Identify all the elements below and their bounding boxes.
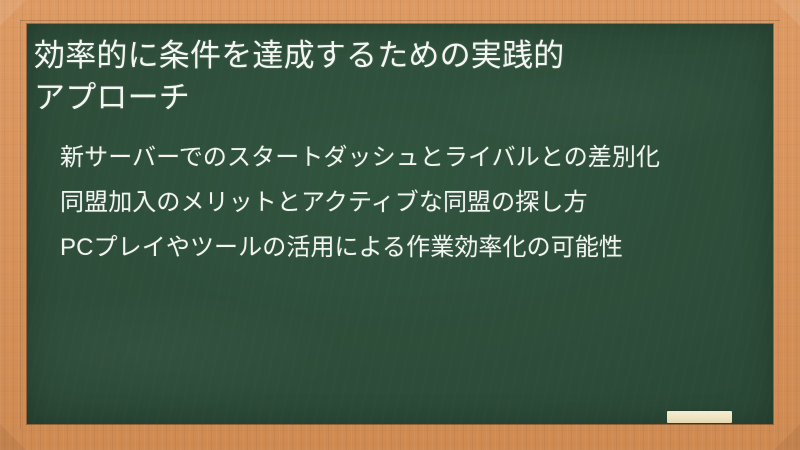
frame-corner-top-right bbox=[774, 0, 800, 26]
slide-bullet-list: 新サーバーでのスタートダッシュとライバルとの差別化 同盟加入のメリットとアクティ… bbox=[34, 141, 755, 264]
frame-corner-bottom-left bbox=[0, 424, 26, 450]
chalk-stick-icon bbox=[667, 411, 732, 423]
frame-corner-bottom-right bbox=[774, 424, 800, 450]
slide-title: 効率的に条件を達成するための実践的 アプローチ bbox=[34, 35, 755, 119]
list-item: PCプレイやツールの活用による作業効率化の可能性 bbox=[60, 231, 755, 264]
frame-corner-top-left bbox=[0, 0, 26, 26]
slide-content: 効率的に条件を達成するための実践的 アプローチ 新サーバーでのスタートダッシュと… bbox=[27, 24, 773, 424]
list-item: 新サーバーでのスタートダッシュとライバルとの差別化 bbox=[60, 141, 755, 174]
chalkboard-surface: 効率的に条件を達成するための実践的 アプローチ 新サーバーでのスタートダッシュと… bbox=[27, 24, 773, 424]
chalkboard-slide: 効率的に条件を達成するための実践的 アプローチ 新サーバーでのスタートダッシュと… bbox=[0, 0, 800, 450]
list-item: 同盟加入のメリットとアクティブな同盟の探し方 bbox=[60, 186, 755, 219]
